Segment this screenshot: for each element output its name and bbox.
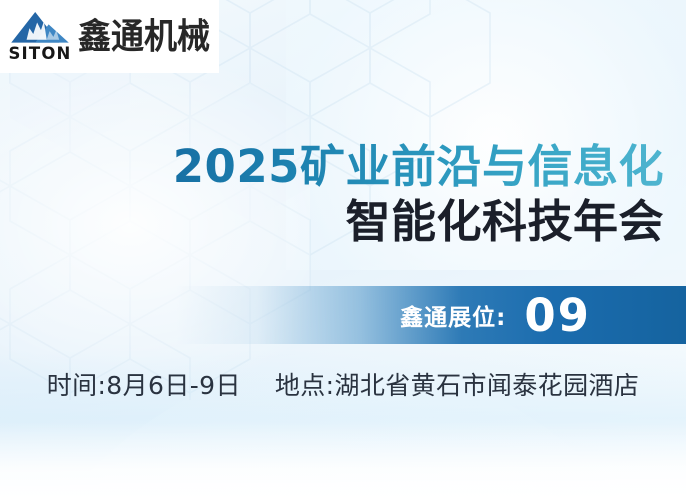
booth-number: 09 (524, 293, 591, 338)
booth-banner: 鑫通展位: 09 (176, 286, 686, 344)
siton-mountain-icon: SITON (9, 11, 71, 63)
event-details: 时间:8月6日-9日 地点:湖北省黄石市闻泰花园酒店 (0, 366, 686, 402)
headline-line-1: 2025矿业前沿与信息化 (0, 142, 664, 193)
bottom-white-fade (0, 422, 686, 500)
background-decoration (0, 0, 686, 500)
brand-name-cn: 鑫通机械 (78, 19, 210, 54)
company-logo: SITON 鑫通机械 (0, 0, 219, 73)
event-location: 地点:湖北省黄石市闻泰花园酒店 (275, 366, 639, 402)
headline-line-2: 智能化科技年会 (0, 197, 664, 248)
event-time: 时间:8月6日-9日 (47, 366, 241, 402)
poster-headline: 2025矿业前沿与信息化 智能化科技年会 (0, 142, 664, 248)
booth-label: 鑫通展位: (400, 298, 506, 332)
siton-wordmark: SITON (8, 46, 71, 63)
event-poster: SITON 鑫通机械 2025矿业前沿与信息化 智能化科技年会 鑫通展位: 09… (0, 0, 686, 500)
